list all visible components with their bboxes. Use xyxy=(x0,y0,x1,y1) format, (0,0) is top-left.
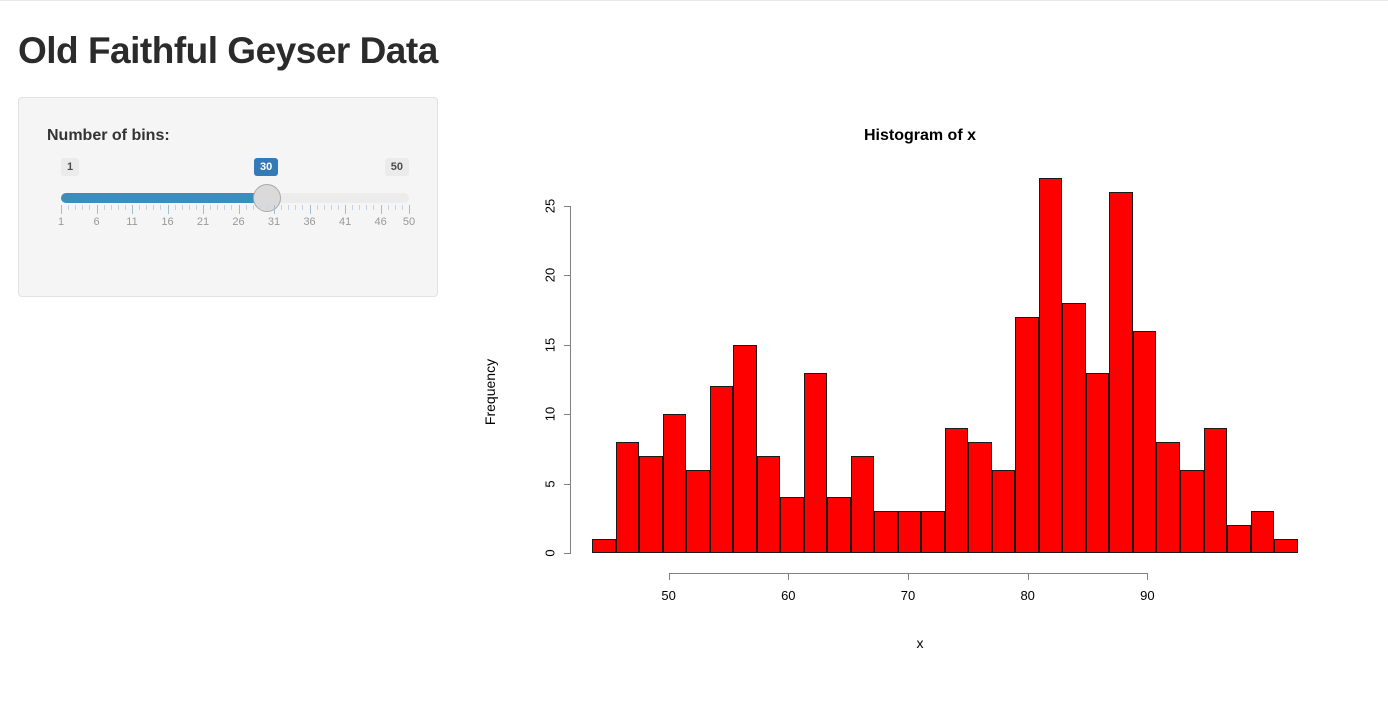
x-tick-label: 90 xyxy=(1140,588,1154,603)
slider-tick-marks xyxy=(61,205,409,214)
y-tick-label: 20 xyxy=(543,268,558,282)
y-tick-label: 10 xyxy=(543,407,558,421)
histogram-bar xyxy=(1086,373,1109,553)
histogram-bar xyxy=(1274,539,1297,553)
slider-tick xyxy=(89,205,90,210)
histogram-bar xyxy=(898,511,921,553)
slider-tick xyxy=(82,205,83,210)
x-tick-mark xyxy=(788,573,789,580)
slider-tick xyxy=(338,205,339,210)
slider-tick xyxy=(288,205,289,210)
histogram-bar xyxy=(804,373,827,553)
histogram-bar xyxy=(592,539,616,553)
slider-tick xyxy=(203,205,204,214)
slider-tick xyxy=(160,205,161,210)
x-tick-mark xyxy=(908,573,909,580)
slider-tick xyxy=(395,205,396,210)
histogram-bar xyxy=(1015,317,1039,553)
slider-tick xyxy=(118,205,119,210)
slider-tick xyxy=(366,205,367,210)
y-axis-line xyxy=(570,206,571,553)
y-tick-mark xyxy=(564,553,571,554)
histogram-bar xyxy=(639,456,663,553)
histogram-bar xyxy=(1109,192,1133,553)
slider-tick xyxy=(139,205,140,210)
histogram-bar xyxy=(757,456,780,553)
slider-tick xyxy=(352,205,353,210)
slider-tick xyxy=(260,205,261,210)
y-tick-mark xyxy=(564,345,571,346)
histogram-bar xyxy=(780,497,804,553)
histogram-bar xyxy=(851,456,874,553)
histogram-bar xyxy=(945,428,968,553)
y-tick-label: 25 xyxy=(543,199,558,213)
slider-tick xyxy=(253,205,254,210)
slider-tick xyxy=(345,205,346,214)
x-tick-label: 80 xyxy=(1020,588,1034,603)
slider-tick-labels: 16111621263136414650 xyxy=(47,216,423,230)
histogram-bar xyxy=(1251,511,1275,553)
histogram-bar xyxy=(616,442,639,553)
slider-tick-label: 31 xyxy=(268,216,280,228)
slider-tick xyxy=(324,205,325,210)
y-axis-title-label: Frequency xyxy=(482,359,498,425)
slider-tick xyxy=(75,205,76,210)
histogram-bar xyxy=(1156,442,1180,553)
slider-tick xyxy=(281,205,282,210)
histogram-bar xyxy=(710,386,733,553)
slider-tick xyxy=(196,205,197,210)
histogram-bar xyxy=(733,345,757,553)
slider-tick xyxy=(381,205,382,214)
slider-tick xyxy=(246,205,247,210)
slider-tick xyxy=(317,205,318,210)
slider-tick xyxy=(274,205,275,214)
slider-tick xyxy=(97,205,98,214)
slider-tick xyxy=(295,205,296,210)
top-divider xyxy=(0,0,1388,1)
histogram-bar xyxy=(1180,470,1203,553)
slider-tick-label: 21 xyxy=(197,216,209,228)
histogram-bar xyxy=(921,511,945,553)
y-tick-mark xyxy=(564,275,571,276)
x-tick-mark xyxy=(1028,573,1029,580)
slider-tick xyxy=(388,205,389,210)
slider-track[interactable] xyxy=(61,193,409,203)
slider-tick-label: 26 xyxy=(232,216,244,228)
slider-tick xyxy=(231,205,232,210)
slider-tick-label: 1 xyxy=(58,216,64,228)
histogram-bar xyxy=(663,414,686,553)
x-tick-label: 70 xyxy=(901,588,915,603)
x-tick-mark xyxy=(669,573,670,580)
y-tick-mark xyxy=(564,414,571,415)
slider-max-label: 50 xyxy=(385,158,409,176)
plot-title: Histogram of x xyxy=(460,127,1380,145)
slider-tick xyxy=(68,205,69,210)
slider-value-bubble: 30 xyxy=(254,158,278,176)
sidebar-panel: Number of bins: 1 50 30 1611162126313641… xyxy=(18,97,438,297)
histogram-bar xyxy=(1204,428,1228,553)
slider-tick xyxy=(359,205,360,210)
histogram-bar xyxy=(874,511,898,553)
slider-tick xyxy=(61,205,62,214)
slider-tick xyxy=(210,205,211,210)
slider-tick-label: 46 xyxy=(374,216,386,228)
slider-tick xyxy=(132,205,133,214)
page-title: Old Faithful Geyser Data xyxy=(18,30,438,72)
slider-tick xyxy=(146,205,147,210)
slider-tick xyxy=(239,205,240,214)
x-tick-label: 50 xyxy=(661,588,675,603)
histogram-bar xyxy=(686,470,710,553)
slider-tick-label: 41 xyxy=(339,216,351,228)
slider-tick-label: 11 xyxy=(126,216,137,228)
slider-label: Number of bins: xyxy=(47,127,170,145)
histogram-bar xyxy=(1133,331,1156,553)
slider-tick xyxy=(153,205,154,210)
slider-fill xyxy=(61,193,267,203)
slider-tick-label: 16 xyxy=(161,216,173,228)
bins-slider[interactable]: 1 50 30 16111621263136414650 xyxy=(47,158,411,243)
y-tick-label: 0 xyxy=(543,549,558,556)
slider-tick xyxy=(331,205,332,210)
slider-tick xyxy=(310,205,311,214)
slider-tick-label: 36 xyxy=(303,216,315,228)
slider-tick xyxy=(104,205,105,210)
slider-tick xyxy=(175,205,176,210)
slider-tick xyxy=(217,205,218,210)
slider-tick xyxy=(224,205,225,210)
histogram-bar xyxy=(827,497,851,553)
slider-tick xyxy=(111,205,112,210)
slider-tick xyxy=(182,205,183,210)
y-tick-label: 15 xyxy=(543,338,558,352)
slider-tick xyxy=(402,205,403,210)
slider-tick xyxy=(302,205,303,210)
slider-tick-label: 50 xyxy=(403,216,415,228)
slider-tick xyxy=(267,205,268,210)
x-axis-title: x xyxy=(460,635,1380,651)
y-tick-mark xyxy=(564,484,571,485)
histogram-bar xyxy=(1039,178,1062,553)
slider-min-label: 1 xyxy=(61,158,79,176)
histogram-bar xyxy=(1227,525,1250,553)
histogram-bar xyxy=(1062,303,1086,553)
slider-tick xyxy=(189,205,190,210)
histogram-bar xyxy=(992,470,1015,553)
y-tick-label: 5 xyxy=(543,480,558,487)
histogram-plot: Histogram of x Frequency x 0510152025506… xyxy=(460,97,1380,667)
x-tick-mark xyxy=(1147,573,1148,580)
slider-tick-label: 6 xyxy=(93,216,99,228)
histogram-bar xyxy=(968,442,992,553)
slider-tick xyxy=(125,205,126,210)
slider-tick xyxy=(409,205,410,214)
x-tick-label: 60 xyxy=(781,588,795,603)
slider-tick xyxy=(168,205,169,214)
slider-tick xyxy=(373,205,374,210)
y-tick-mark xyxy=(564,206,571,207)
